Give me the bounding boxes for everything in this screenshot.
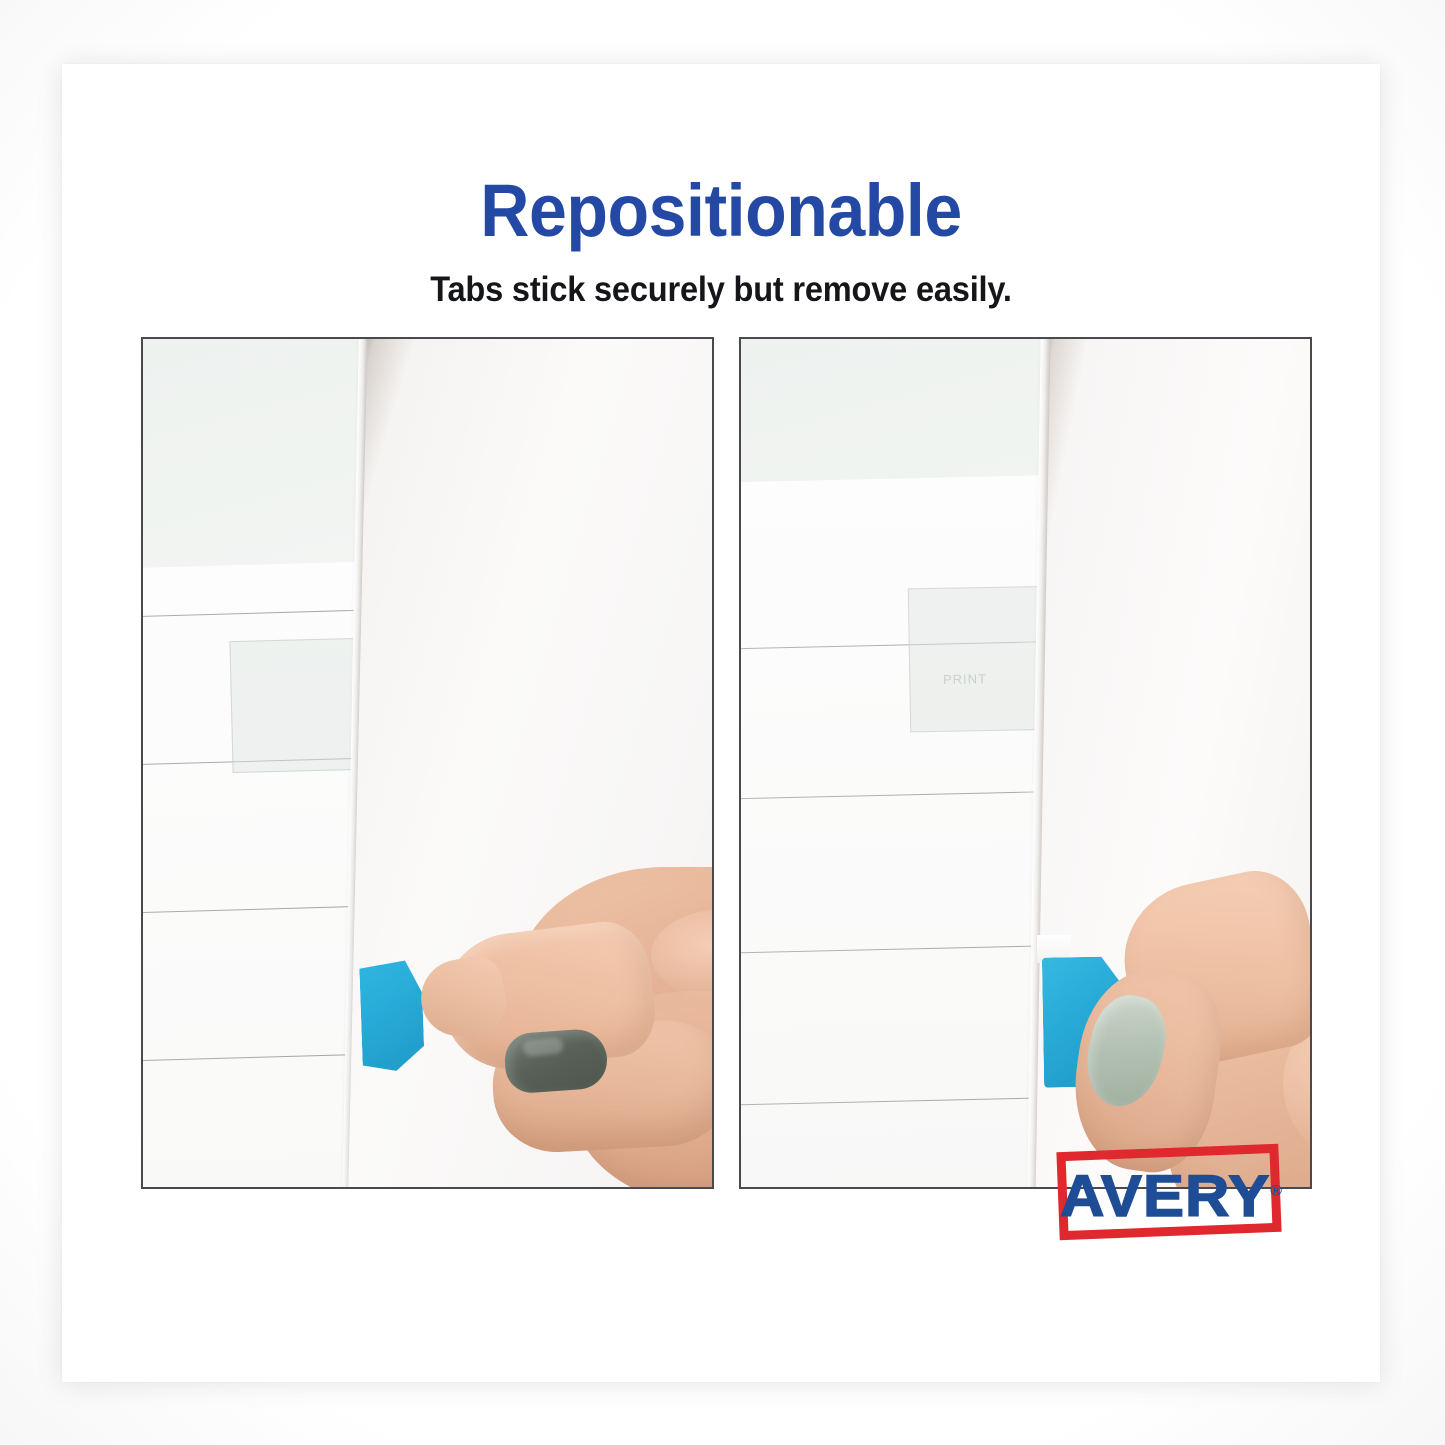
hand-left [419, 873, 714, 1189]
avery-wordmark: AVERY® [1039, 1168, 1304, 1226]
registered-trademark-symbol: ® [1270, 1183, 1282, 1200]
rule-line [739, 1097, 1069, 1106]
headline-block: Repositionable Tabs stick securely but r… [62, 174, 1380, 310]
page-subtitle: Tabs stick securely but remove easily. [108, 270, 1334, 310]
rule-line [739, 791, 1062, 800]
rule-line [739, 945, 1065, 954]
photo-panel-group: PRINT [141, 337, 1313, 1189]
avery-wordmark-text: AVERY [1060, 1164, 1270, 1229]
ruled-index-sheet-right [739, 475, 1069, 1189]
page-backdrop: Repositionable Tabs stick securely but r… [0, 0, 1445, 1445]
rule-line [141, 609, 377, 618]
page-title: Repositionable [115, 174, 1328, 248]
photo-panel-peel-tab [141, 337, 714, 1189]
photo-panel-reposition-tab: PRINT [739, 337, 1312, 1189]
avery-logo: AVERY® [1046, 1142, 1296, 1252]
product-image-card: Repositionable Tabs stick securely but r… [62, 64, 1380, 1382]
